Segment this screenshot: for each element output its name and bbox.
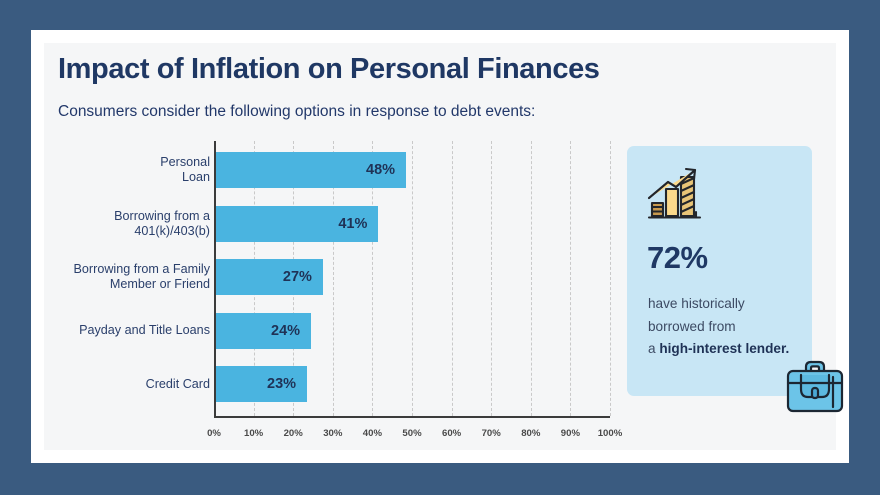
infographic-card: Impact of Inflation on Personal Finances… <box>44 43 836 450</box>
bar: 23% <box>216 366 307 402</box>
category-label-line: Member or Friend <box>110 277 210 291</box>
bar: 48% <box>216 152 406 188</box>
x-axis-tick-label: 80% <box>521 428 540 439</box>
x-axis-tick-label: 10% <box>244 428 263 439</box>
x-axis-tick-label: 30% <box>323 428 342 439</box>
bar-chart: PersonalLoanBorrowing from a401(k)/403(b… <box>44 141 624 441</box>
bar-value-label: 48% <box>366 162 395 178</box>
gridline <box>491 141 492 416</box>
callout-stat: 72% <box>647 240 708 276</box>
bar-value-label: 24% <box>271 323 300 339</box>
bar-value-label: 23% <box>267 376 296 392</box>
gridline <box>531 141 532 416</box>
category-label: Credit Card <box>44 377 210 392</box>
category-label: Payday and Title Loans <box>44 323 210 338</box>
category-label-line: Loan <box>182 170 210 184</box>
category-label: Borrowing from a401(k)/403(b) <box>44 209 210 239</box>
gridline <box>570 141 571 416</box>
x-axis-tick-label: 60% <box>442 428 461 439</box>
x-axis-tick-label: 40% <box>363 428 382 439</box>
x-axis-tick-label: 50% <box>402 428 421 439</box>
bar: 24% <box>216 313 311 349</box>
callout-text-line-3-prefix: a <box>648 341 659 356</box>
category-axis-labels: PersonalLoanBorrowing from a401(k)/403(b… <box>44 141 210 418</box>
page-subtitle: Consumers consider the following options… <box>58 103 535 121</box>
bar-value-label: 41% <box>338 216 367 232</box>
page-title: Impact of Inflation on Personal Finances <box>58 53 600 86</box>
bar-value-label: 27% <box>283 269 312 285</box>
infographic-root: Impact of Inflation on Personal Finances… <box>0 0 880 495</box>
callout-text-line-2: borrowed from <box>648 319 736 334</box>
callout-text: have historically borrowed from a high-i… <box>648 293 813 361</box>
chart-plot-area: 48%41%27%24%23%0%10%20%30%40%50%60%70%80… <box>214 141 610 418</box>
category-label-line: Credit Card <box>146 377 210 391</box>
bar: 27% <box>216 259 323 295</box>
briefcase-icon <box>781 353 849 419</box>
x-axis-tick-label: 90% <box>561 428 580 439</box>
gridline <box>610 141 611 416</box>
callout-text-emphasis: high-interest lender. <box>659 341 789 356</box>
category-label-line: Borrowing from a <box>114 209 210 223</box>
category-label-line: Personal <box>160 155 210 169</box>
gridline <box>452 141 453 416</box>
x-axis-tick-label: 0% <box>207 428 221 439</box>
callout-text-line-1: have historically <box>648 296 745 311</box>
bar: 41% <box>216 206 378 242</box>
category-label: PersonalLoan <box>44 155 210 185</box>
x-axis-tick-label: 70% <box>482 428 501 439</box>
x-axis-tick-label: 20% <box>284 428 303 439</box>
category-label-line: Payday and Title Loans <box>79 323 210 337</box>
gridline <box>412 141 413 416</box>
category-label: Borrowing from a FamilyMember or Friend <box>44 262 210 292</box>
category-label-line: 401(k)/403(b) <box>134 224 210 238</box>
x-axis-line <box>214 416 610 418</box>
x-axis-tick-label: 100% <box>598 428 623 439</box>
growth-chart-icon <box>646 165 710 223</box>
category-label-line: Borrowing from a Family <box>74 262 210 276</box>
